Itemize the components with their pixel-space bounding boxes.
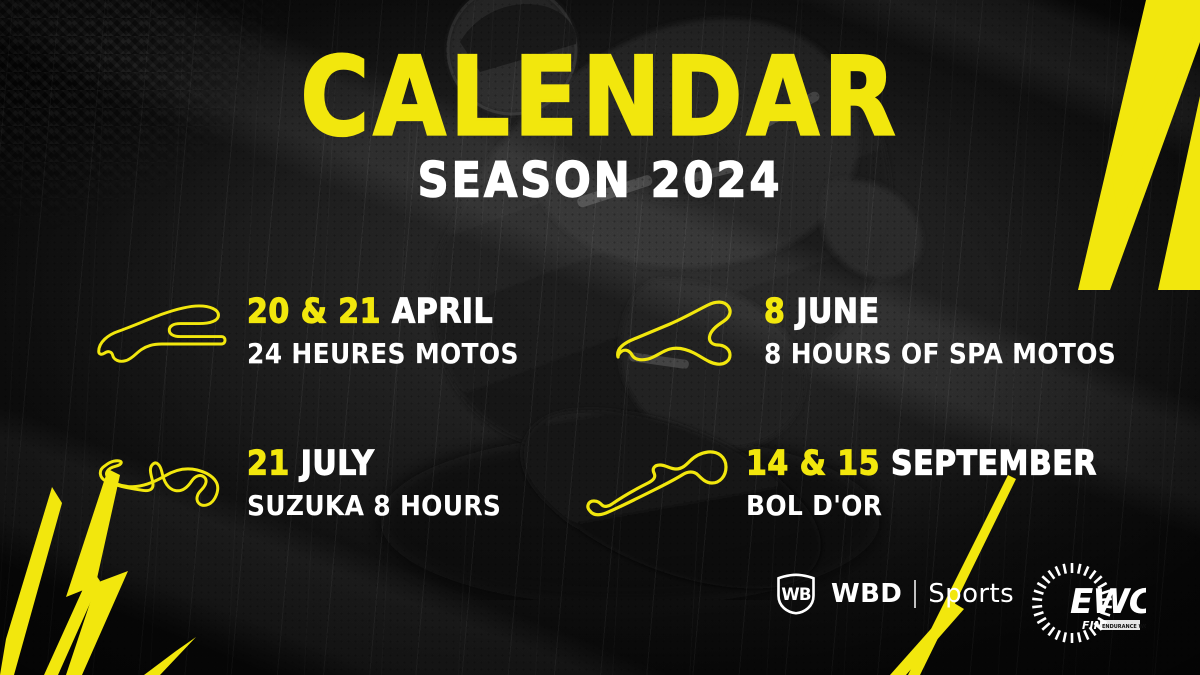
event-text: 20 & 21 APRIL 24 HEURES MOTOS [247,294,519,369]
svg-text:WB: WB [781,585,810,604]
footer-logos: WB WBD Sports [0,553,1200,649]
le-mans-circuit-map-icon [95,288,225,374]
event-text: 8 JUNE 8 HOURS OF SPA MOTOS [764,294,1116,369]
event-item[interactable]: 8 JUNE 8 HOURS OF SPA MOTOS [612,255,1125,407]
event-date: 8 JUNE [764,293,1116,329]
ewc-logo: EWC FIM ENDURANCE WORLD CHAMPIONSHIP [1018,553,1146,653]
ewc-wordmark: EWC [1070,582,1146,622]
event-date: 14 & 15 SEPTEMBER [746,445,1097,481]
event-name: BOL D'OR [746,490,1097,522]
wbd-brand-label: WBD [831,579,902,609]
paul-ricard-circuit-map-icon [582,440,732,526]
event-date-month: JULY [301,443,375,483]
event-date-month: JUNE [796,291,879,331]
event-name: 24 HEURES MOTOS [247,338,519,370]
warner-bros-shield-icon: WB [775,573,817,615]
wbd-product-label: Sports [928,579,1014,609]
event-date-day: 21 [247,443,290,483]
event-date-month: SEPTEMBER [891,443,1097,483]
event-name: 8 HOURS OF SPA MOTOS [764,338,1116,370]
event-name: SUZUKA 8 HOURS [247,490,501,522]
page-subtitle: SEASON 2024 [0,153,1200,209]
event-date-day: 8 [764,291,785,331]
event-item[interactable]: 21 JULY SUZUKA 8 HOURS [95,407,600,559]
wbd-sports-wordmark: WBD Sports [831,579,1014,609]
ewc-series-label: ENDURANCE WORLD CHAMPIONSHIP [1102,624,1146,630]
event-item[interactable]: 14 & 15 SEPTEMBER BOL D'OR [582,407,1125,559]
event-date: 21 JULY [247,445,501,481]
page-title: CALENDAR [0,46,1200,150]
spa-francorchamps-circuit-map-icon [612,288,742,374]
title-block: CALENDAR SEASON 2024 [0,46,1200,206]
event-date-month: APRIL [392,291,493,331]
wbd-divider [914,580,916,608]
event-list: 20 & 21 APRIL 24 HEURES MOTOS 8 JUNE 8 H… [95,255,1125,559]
event-date-day: 20 & 21 [247,291,381,331]
event-date-day: 14 & 15 [746,443,880,483]
event-text: 21 JULY SUZUKA 8 HOURS [247,446,501,521]
calendar-poster: CALENDAR SEASON 2024 20 & 21 APRIL 24 HE… [0,0,1200,675]
suzuka-circuit-map-icon [95,440,225,526]
event-text: 14 & 15 SEPTEMBER BOL D'OR [746,446,1097,521]
event-item[interactable]: 20 & 21 APRIL 24 HEURES MOTOS [95,255,600,407]
event-date: 20 & 21 APRIL [247,293,519,329]
wbd-sports-logo: WB WBD Sports [775,573,1014,615]
